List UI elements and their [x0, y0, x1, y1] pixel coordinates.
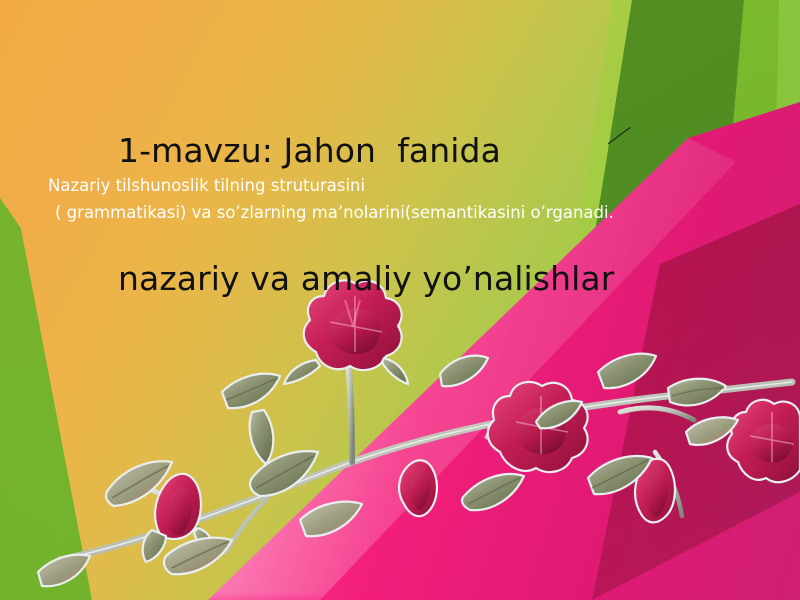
rose-bud-right — [635, 459, 675, 523]
rose-bloom-far-right — [727, 400, 800, 482]
presentation-slide: 1-mavzu: Jahon fanida nazariy va amaliy … — [0, 0, 800, 600]
leaf-cluster-left — [38, 461, 232, 586]
slide-title-line-1: 1-mavzu: Jahon fanida — [118, 130, 758, 173]
rose-bud-left — [143, 474, 215, 562]
rose-bud-mid — [399, 460, 437, 516]
slide-body-line-2: ( grammatikasi) va so’zlarning ma’nolari… — [48, 200, 748, 227]
slide-title-line-2: nazariy va amaliy yo’nalishlar — [118, 258, 758, 301]
slide-body-text: Nazariy tilshunoslik tilning struturasin… — [48, 173, 748, 226]
rose-bloom-right — [488, 382, 588, 472]
slide-body-line-1: Nazariy tilshunoslik tilning struturasin… — [48, 173, 748, 200]
